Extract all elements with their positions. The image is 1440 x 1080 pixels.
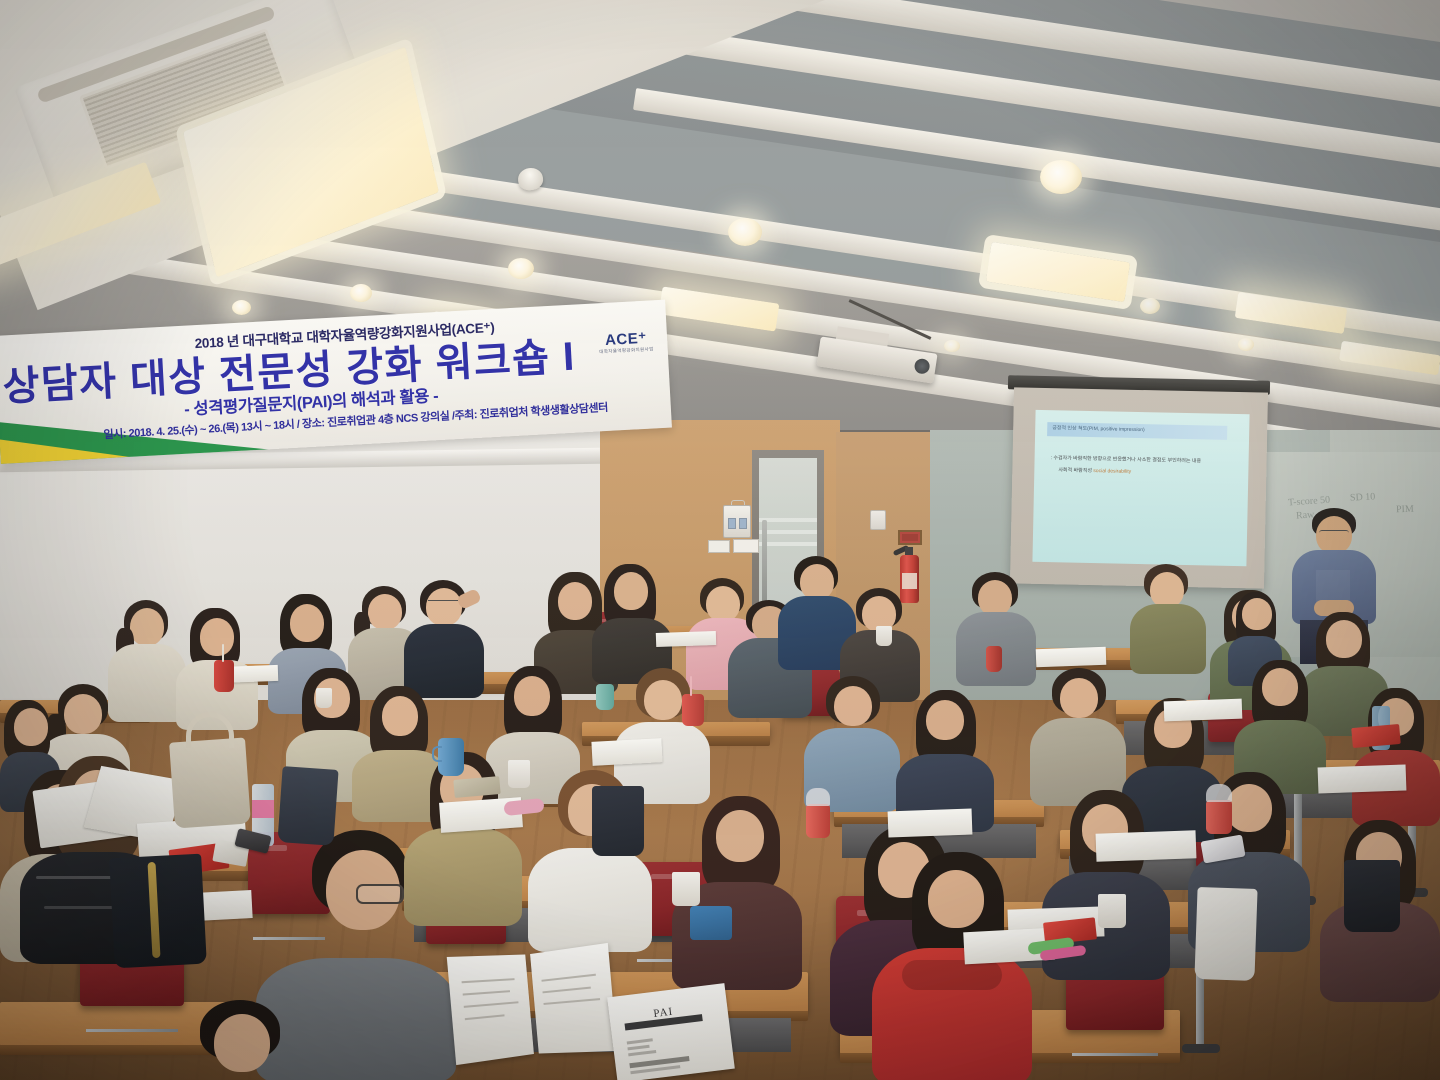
projector-lens	[914, 358, 931, 375]
handout-paper	[888, 809, 973, 838]
attendee	[1352, 688, 1440, 824]
paper-cup	[1098, 894, 1126, 928]
glasses-icon	[1319, 530, 1349, 536]
whiteboard-note: PIM	[1396, 504, 1414, 516]
paper-cup	[876, 626, 892, 646]
tote-bag	[169, 737, 251, 828]
handout-paper	[1318, 764, 1407, 793]
tumbler	[596, 684, 614, 710]
ceiling-downlight	[728, 218, 762, 246]
drink-dome-lid	[1206, 784, 1232, 802]
tote-bag	[1194, 887, 1257, 981]
ceiling-downlight	[944, 340, 960, 352]
ceiling-downlight	[1238, 338, 1254, 351]
slide-bullet-2: 사회적 바람직성 social desirability	[1058, 466, 1131, 475]
attendee	[404, 752, 522, 922]
light-switch[interactable]	[708, 540, 730, 553]
tumbler-handle	[432, 746, 442, 762]
attendee	[404, 580, 484, 696]
wall-control-panel[interactable]	[723, 505, 751, 538]
tumbler	[986, 646, 1002, 672]
paper-cup	[508, 760, 530, 788]
pouch	[690, 906, 732, 940]
paper-cup	[672, 872, 700, 906]
backpack	[592, 786, 644, 856]
ceiling-downlight	[350, 284, 372, 302]
wall-outlet	[870, 510, 886, 530]
bottle-label	[252, 800, 274, 818]
classroom-photo: T-score 50 SD 10 Raw PIM 긍정적 인상 척도(PIM, …	[0, 0, 1440, 1080]
tumbler	[214, 660, 234, 692]
ceiling-downlight	[1140, 298, 1160, 314]
snack-pack	[1351, 724, 1401, 748]
light-switch[interactable]	[733, 539, 759, 553]
ceiling-downlight	[1040, 160, 1082, 194]
ceiling-downlight	[232, 300, 251, 315]
backpack	[1344, 860, 1400, 932]
glasses-icon	[356, 884, 404, 904]
attendee	[1130, 564, 1206, 672]
open-notebook	[448, 945, 616, 1063]
handout-paper	[1096, 830, 1197, 861]
tumbler	[806, 804, 830, 838]
whiteboard-note: SD 10	[1350, 491, 1376, 503]
handout-paper	[656, 631, 716, 647]
pai-handout: PAI	[607, 983, 735, 1080]
projection-screen: 긍정적 인상 척도(PIM, positive impression) : 수검…	[1010, 387, 1268, 588]
drink-dome-lid	[806, 788, 830, 806]
slide-title-bar: 긍정적 인상 척도(PIM, positive impression)	[1047, 422, 1227, 440]
slide-bullet-1: : 수검자가 바람직한 방향으로 반응했거나 사소한 결점도 부인하려는 내용	[1051, 454, 1202, 464]
tumbler	[1206, 800, 1232, 834]
ceiling-downlight	[508, 258, 534, 279]
handout-paper	[591, 738, 662, 766]
handout-paper	[1036, 647, 1107, 667]
slide-title: 긍정적 인상 척도(PIM, positive impression)	[1052, 424, 1145, 433]
fire-extinguisher-sign	[898, 530, 922, 545]
tumbler	[682, 694, 704, 726]
hood	[902, 960, 1002, 990]
straw	[690, 676, 692, 696]
attendee	[592, 564, 672, 682]
ace-logo: ACE⁺ 대학자율역량강화지원사업	[598, 328, 654, 355]
ceiling-panel-light	[659, 286, 780, 331]
presentation-slide: 긍정적 인상 척도(PIM, positive impression) : 수검…	[1032, 410, 1249, 566]
handout-paper	[1164, 699, 1243, 722]
door-handle[interactable]	[762, 520, 767, 608]
attendee	[160, 1000, 310, 1080]
straw	[222, 644, 224, 662]
attendee	[872, 852, 1032, 1080]
whiteboard-note: T-score 50	[1288, 495, 1331, 509]
backpack	[277, 766, 338, 846]
desk-foot	[1182, 1044, 1220, 1053]
attendee	[1030, 668, 1126, 806]
paper-cup	[316, 688, 332, 708]
